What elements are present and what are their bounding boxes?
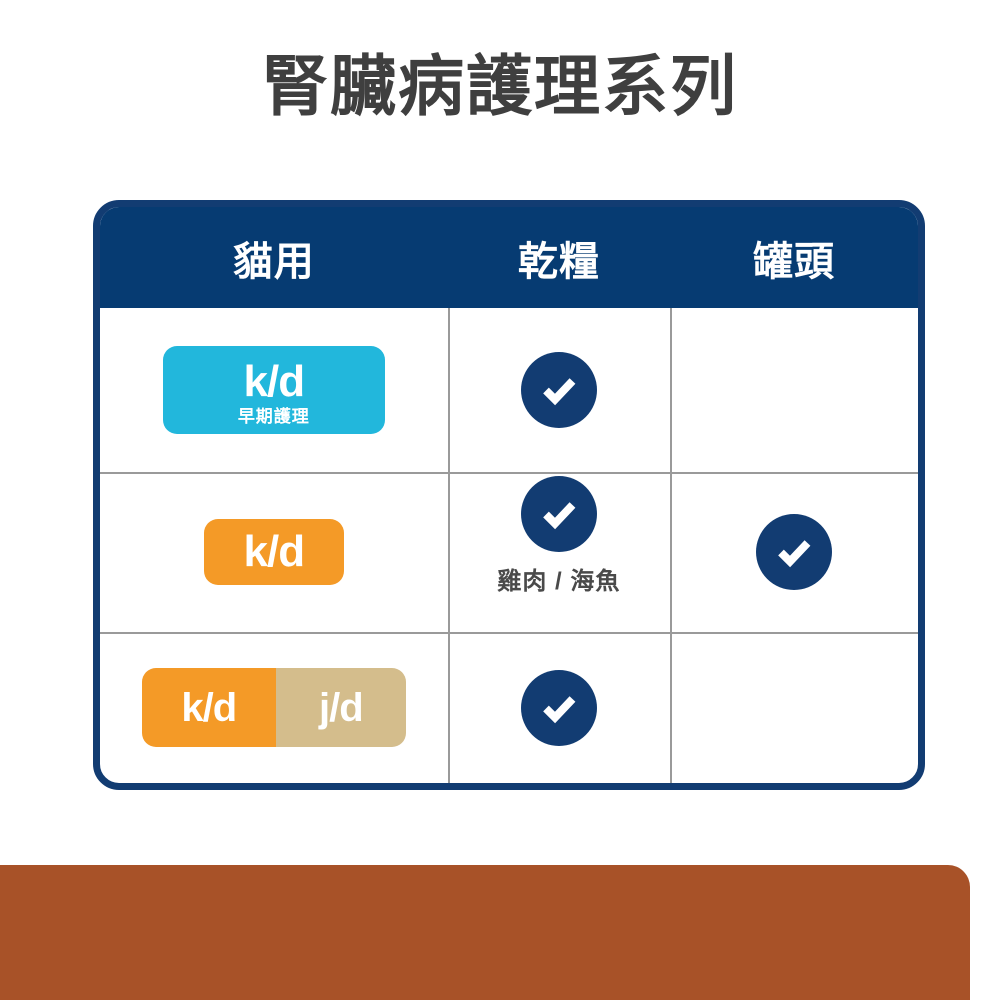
product-badge-kd: k/d — [204, 519, 344, 585]
badge-sublabel: 早期護理 — [238, 408, 310, 425]
compatibility-table: 貓用 乾糧 罐頭 k/d 早期護理 — [93, 200, 925, 790]
cell-product: k/d 早期護理 — [100, 308, 448, 472]
cell-canned — [670, 308, 918, 472]
cell-canned — [670, 632, 918, 783]
cell-canned — [670, 472, 918, 632]
column-header-pet: 貓用 — [100, 229, 448, 287]
check-circle-icon — [756, 514, 832, 590]
badge-code-label: k/d — [244, 530, 305, 574]
cell-product: k/d — [100, 472, 448, 632]
bottom-accent-bar — [0, 865, 970, 1000]
cell-dry-food: 雞肉 / 海魚 — [448, 472, 670, 632]
check-circle-icon — [521, 352, 597, 428]
product-badge-kd-early-care: k/d 早期護理 — [163, 346, 385, 434]
cell-dry-food — [448, 632, 670, 783]
column-header-canned: 罐頭 — [670, 229, 918, 287]
table-header-row: 貓用 乾糧 罐頭 — [100, 207, 918, 308]
dry-food-variant-note: 雞肉 / 海魚 — [497, 561, 620, 596]
table-row: k/d 雞肉 / 海魚 — [100, 472, 918, 632]
product-badge-kd-jd: k/d j/d — [142, 668, 406, 747]
check-group — [521, 352, 597, 428]
badge-segment-jd: j/d — [276, 668, 406, 747]
badge-segment-kd: k/d — [142, 668, 276, 747]
cell-dry-food — [448, 308, 670, 472]
cell-product: k/d j/d — [100, 632, 448, 783]
check-group: 雞肉 / 海魚 — [497, 476, 620, 596]
table-row: k/d 早期護理 — [100, 308, 918, 472]
column-header-dry-food: 乾糧 — [448, 229, 670, 287]
check-circle-icon — [521, 670, 597, 746]
check-circle-icon — [521, 476, 597, 552]
badge-code-label: k/d — [181, 688, 236, 728]
check-group — [521, 670, 597, 746]
page-title: 腎臟病護理系列 — [0, 52, 1000, 121]
badge-code-label: k/d — [244, 360, 305, 404]
table-row: k/d j/d — [100, 632, 918, 783]
badge-code-label-secondary: j/d — [319, 688, 363, 728]
table-body: k/d 早期護理 k/d — [100, 308, 918, 783]
